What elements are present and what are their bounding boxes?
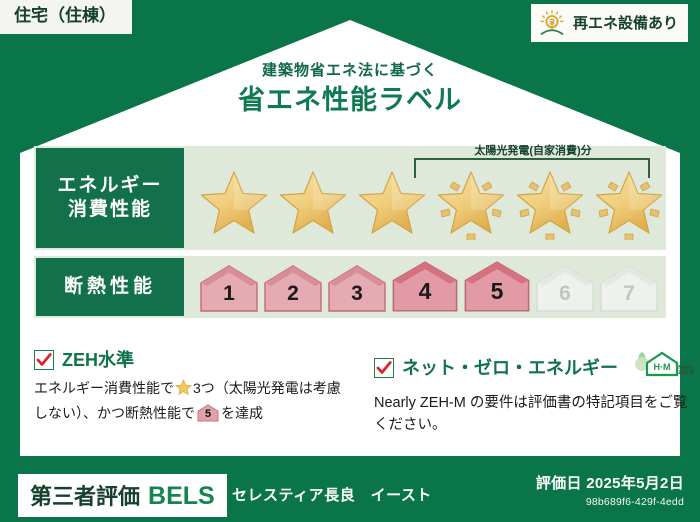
criteria-section: ZEH水準 エネルギー消費性能で3つ（太陽光発電は考慮しない）、かつ断熱性能で5… <box>34 350 670 437</box>
building-type-tag: 住宅（住棟） <box>0 0 132 34</box>
footer-right-block: 評価日 2025年5月2日 98b689f6-429f-4edd <box>536 472 684 508</box>
performance-rows: エネルギー 消費性能 太陽光発電(自家消費)分 断熱性能 1234567 <box>34 146 666 324</box>
zeh-m-logo-main: H·M <box>654 362 671 372</box>
energy-performance-row: エネルギー 消費性能 太陽光発電(自家消費)分 <box>34 146 666 250</box>
energy-star-rating <box>186 166 667 240</box>
star-icon-svg <box>433 166 509 240</box>
star-solar <box>591 166 667 240</box>
renewable-equipment-badge: 再エネ設備あり <box>531 4 688 42</box>
insulation-grade-inline-icon: 5 <box>197 404 219 422</box>
insulation-grade-value: 1 <box>223 283 235 314</box>
insulation-grade-value: 3 <box>351 283 363 314</box>
star-icon-svg <box>175 379 192 396</box>
insulation-grade-badge: 3 <box>326 264 388 314</box>
zeh-criteria-body: エネルギー消費性能で3つ（太陽光発電は考慮しない）、かつ断熱性能で5を達成 <box>34 377 352 425</box>
zeh-text-part1: エネルギー消費性能で <box>34 380 174 396</box>
insulation-grade-badges: 1234567 <box>186 260 660 314</box>
insulation-grade-value: 5 <box>491 280 504 314</box>
footer-bar: 第三者評価 BELS セレスティア長良 イースト 評価日 2025年5月2日 9… <box>0 462 700 522</box>
insulation-grade-value: 4 <box>419 280 432 314</box>
zeh-criteria-column: ZEH水準 エネルギー消費性能で3つ（太陽光発電は考慮しない）、かつ断熱性能で5… <box>34 350 352 437</box>
check-icon <box>34 350 54 370</box>
star-base <box>196 166 272 240</box>
energy-performance-content: 太陽光発電(自家消費)分 <box>186 146 667 250</box>
energy-performance-label: エネルギー 消費性能 <box>36 148 184 248</box>
star-solar <box>433 166 509 240</box>
zeh-text-part3: を達成 <box>221 405 263 421</box>
insulation-performance-row: 断熱性能 1234567 <box>34 256 666 318</box>
nze-criteria-title: ネット・ゼロ・エネルギー <box>402 359 618 377</box>
insulation-grade-badge: 2 <box>262 264 324 314</box>
insulation-grade-badge: 5 <box>462 260 532 314</box>
sun-icon-svg <box>537 9 567 37</box>
energy-label-line1: エネルギー <box>57 174 162 198</box>
zeh-criteria-header: ZEH水準 <box>34 350 352 370</box>
nze-criteria-column: ネット・ゼロ・エネルギー H·M Nearly ZEH-M Nearly ZEH… <box>374 350 694 437</box>
building-name: セレスティア長良 イースト <box>232 484 432 505</box>
check-icon <box>374 358 394 378</box>
title-block: 建築物省エネ法に基づく 省エネ性能ラベル <box>0 62 700 118</box>
check-icon-svg <box>376 360 392 376</box>
zeh-m-logo-svg: H·M Nearly ZEH-M <box>632 350 694 380</box>
nze-criteria-header: ネット・ゼロ・エネルギー H·M Nearly ZEH-M <box>374 350 694 385</box>
insulation-grade-badge: 4 <box>390 260 460 314</box>
star-icon-svg <box>196 166 272 240</box>
zeh-m-logo-sub2: ZEH-M <box>678 370 694 376</box>
renewable-badge-label: 再エネ設備あり <box>573 16 678 31</box>
insulation-grade-badge: 7 <box>598 264 660 314</box>
bels-en-label: BELS <box>148 482 215 511</box>
star-base <box>275 166 351 240</box>
energy-label-root: 住宅（住棟） 再エネ設備あり 建築物省エ <box>0 0 700 522</box>
energy-label-line2: 消費性能 <box>68 198 152 222</box>
title-main: 省エネ性能ラベル <box>0 84 700 118</box>
insulation-grade-inline-value: 5 <box>197 404 219 422</box>
star-solar <box>512 166 588 240</box>
insulation-grade-value: 7 <box>623 283 635 314</box>
star-base <box>354 166 430 240</box>
title-subtitle: 建築物省エネ法に基づく <box>0 62 700 80</box>
zeh-m-logo: H·M Nearly ZEH-M <box>632 350 694 385</box>
evaluation-date: 評価日 2025年5月2日 <box>536 472 684 493</box>
bels-logo: 第三者評価 BELS <box>18 474 227 517</box>
insulation-grade-value: 2 <box>287 283 299 314</box>
nze-criteria-body: Nearly ZEH-M の要件は評価書の特記項目をご覧ください。 <box>374 392 694 437</box>
insulation-grade-badge: 1 <box>198 264 260 314</box>
check-icon-svg <box>36 352 52 368</box>
evaluation-id: 98b689f6-429f-4edd <box>536 496 684 508</box>
star-icon-svg <box>275 166 351 240</box>
solar-bracket-label: 太陽光発電(自家消費)分 <box>408 142 658 158</box>
star-icon-svg <box>512 166 588 240</box>
bels-jp-label: 第三者評価 <box>30 479 140 511</box>
insulation-performance-label: 断熱性能 <box>36 258 184 316</box>
sun-icon <box>537 9 567 37</box>
zeh-criteria-title: ZEH水準 <box>62 351 134 369</box>
star-icon-svg <box>591 166 667 240</box>
insulation-performance-content: 1234567 <box>186 256 666 318</box>
star-icon <box>175 379 192 402</box>
insulation-grade-badge: 6 <box>534 264 596 314</box>
star-icon-svg <box>354 166 430 240</box>
insulation-grade-value: 6 <box>559 283 571 314</box>
